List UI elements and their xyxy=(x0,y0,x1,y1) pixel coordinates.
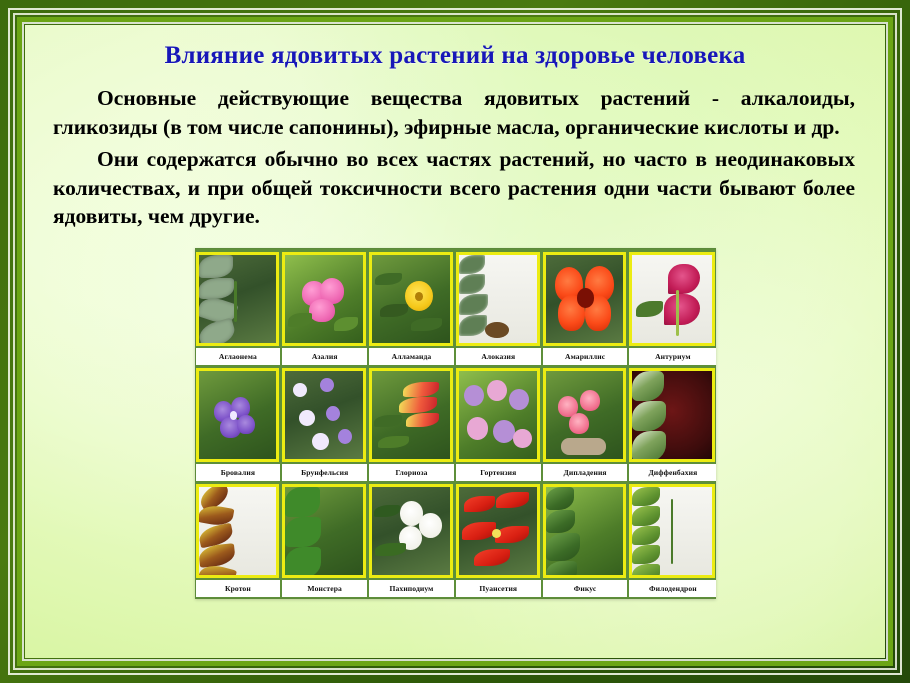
plant-illustration xyxy=(285,487,363,575)
plant-photo[interactable] xyxy=(456,252,540,346)
plant-illustration xyxy=(372,371,450,459)
plant-name-label: Антуриум xyxy=(629,348,716,365)
plant-photo-cell[interactable] xyxy=(196,252,283,346)
plant-photo-cell[interactable] xyxy=(629,252,716,346)
plant-illustration xyxy=(199,487,277,575)
plant-photo[interactable] xyxy=(196,484,280,578)
plant-name-label: Алоказия xyxy=(456,348,543,365)
plant-illustration xyxy=(459,371,537,459)
plant-illustration xyxy=(372,487,450,575)
plant-illustration xyxy=(199,255,277,343)
plant-photo-cell[interactable] xyxy=(282,252,369,346)
plant-name-label: Глориоза xyxy=(369,464,456,481)
plant-name-label: Монстера xyxy=(282,580,369,597)
poisonous-plants-table: АглаонемаАзалияАлламандаАлоказияАмарилли… xyxy=(195,248,716,599)
slide-canvas: Влияние ядовитых растений на здоровье че… xyxy=(25,25,885,658)
plant-name-label: Пахиподиум xyxy=(369,580,456,597)
plant-illustration xyxy=(285,371,363,459)
plant-photo[interactable] xyxy=(369,368,453,462)
plant-photo-cell[interactable] xyxy=(543,484,630,578)
plant-photo-cell[interactable] xyxy=(369,484,456,578)
plant-photo[interactable] xyxy=(629,252,715,346)
presentation-slide: Влияние ядовитых растений на здоровье че… xyxy=(0,0,910,683)
plant-photo[interactable] xyxy=(196,252,280,346)
plant-photo-cell[interactable] xyxy=(543,252,630,346)
plant-label-row: КротонМонстераПахиподиумПуансетияФикусФи… xyxy=(196,578,715,598)
plant-photo[interactable] xyxy=(543,252,627,346)
slide-body: Основные действующие вещества ядовитых р… xyxy=(53,84,855,231)
plant-label-row: АглаонемаАзалияАлламандаАлоказияАмарилли… xyxy=(196,346,715,365)
plant-photo-cell[interactable] xyxy=(456,484,543,578)
plant-photo[interactable] xyxy=(369,484,453,578)
paragraph-1: Основные действующие вещества ядовитых р… xyxy=(53,84,855,141)
plant-image-row xyxy=(196,249,715,346)
paragraph-2: Они содержатся обычно во всех частях рас… xyxy=(53,145,855,231)
plant-name-label: Дипладения xyxy=(543,464,630,481)
plant-photo[interactable] xyxy=(456,484,540,578)
plant-name-label: Алламанда xyxy=(369,348,456,365)
plant-name-label: Брунфельсия xyxy=(282,464,369,481)
plant-photo-cell[interactable] xyxy=(282,368,369,462)
plant-photo[interactable] xyxy=(369,252,453,346)
plant-photo[interactable] xyxy=(543,368,627,462)
plant-name-label: Аглаонема xyxy=(196,348,283,365)
plant-photo-cell[interactable] xyxy=(196,368,283,462)
plant-illustration xyxy=(546,371,624,459)
plant-name-label: Кротон xyxy=(196,580,283,597)
plant-illustration xyxy=(546,255,624,343)
plant-illustration xyxy=(632,487,712,575)
plant-photo-cell[interactable] xyxy=(629,484,716,578)
plant-illustration xyxy=(459,255,537,343)
plant-illustration xyxy=(632,255,712,343)
plant-photo[interactable] xyxy=(456,368,540,462)
plant-image-row xyxy=(196,481,715,578)
plant-illustration xyxy=(632,371,712,459)
plant-name-label: Амариллис xyxy=(543,348,630,365)
plant-photo-cell[interactable] xyxy=(282,484,369,578)
plant-photo-cell[interactable] xyxy=(369,368,456,462)
plant-photo[interactable] xyxy=(629,484,715,578)
plant-illustration xyxy=(372,255,450,343)
plant-name-label: Фикус xyxy=(543,580,630,597)
plant-photo[interactable] xyxy=(282,368,366,462)
plant-name-label: Бровалия xyxy=(196,464,283,481)
plant-illustration xyxy=(285,255,363,343)
plant-photo-cell[interactable] xyxy=(196,484,283,578)
plant-image-row xyxy=(196,365,715,462)
plant-photo-cell[interactable] xyxy=(543,368,630,462)
plant-name-label: Пуансетия xyxy=(456,580,543,597)
plant-illustration xyxy=(459,487,537,575)
plant-photo[interactable] xyxy=(543,484,627,578)
plant-name-label: Филодендрон xyxy=(629,580,716,597)
plant-photo[interactable] xyxy=(629,368,715,462)
plant-label-row: БровалияБрунфельсияГлориозаГортензияДипл… xyxy=(196,462,715,481)
plant-photo-cell[interactable] xyxy=(456,368,543,462)
plant-name-label: Диффенбахия xyxy=(629,464,716,481)
plant-photo[interactable] xyxy=(282,484,366,578)
plant-photo[interactable] xyxy=(196,368,280,462)
plant-photo[interactable] xyxy=(282,252,366,346)
plant-illustration xyxy=(546,487,624,575)
plant-photo-cell[interactable] xyxy=(369,252,456,346)
slide-title: Влияние ядовитых растений на здоровье че… xyxy=(25,42,885,70)
plant-photo-cell[interactable] xyxy=(629,368,716,462)
plant-name-label: Азалия xyxy=(282,348,369,365)
plant-photo-cell[interactable] xyxy=(456,252,543,346)
plant-name-label: Гортензия xyxy=(456,464,543,481)
plant-illustration xyxy=(199,371,277,459)
